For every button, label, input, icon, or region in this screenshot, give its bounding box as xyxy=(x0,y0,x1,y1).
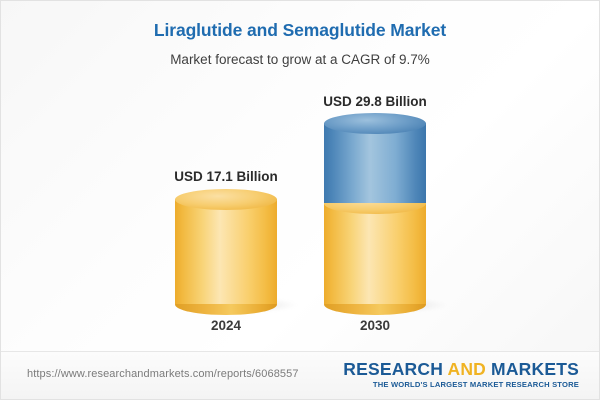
segment-body xyxy=(175,199,277,304)
segment-growth-2030 xyxy=(324,123,426,203)
cylinder-2030[interactable] xyxy=(324,123,426,304)
segment-body xyxy=(324,203,426,304)
brand-word-markets: MARKETS xyxy=(486,359,579,379)
segment-top-ellipse xyxy=(175,189,277,210)
brand-tagline: THE WORLD'S LARGEST MARKET RESEARCH STOR… xyxy=(343,380,579,390)
brand-word-research: RESEARCH xyxy=(343,359,447,379)
brand-name: RESEARCH AND MARKETS xyxy=(343,359,579,379)
brand-logo: RESEARCH AND MARKETS THE WORLD'S LARGEST… xyxy=(343,359,579,390)
year-label-2030: 2030 xyxy=(304,318,446,333)
year-label-2024: 2024 xyxy=(155,318,297,333)
segment-body xyxy=(324,123,426,203)
segment-base-2024 xyxy=(175,199,277,304)
market-infographic: Liraglutide and Semaglutide Market Marke… xyxy=(0,0,600,400)
report-url[interactable]: https://www.researchandmarkets.com/repor… xyxy=(27,368,299,380)
value-label-2024: USD 17.1 Billion xyxy=(135,169,317,184)
value-label-2030: USD 29.8 Billion xyxy=(284,94,466,109)
chart-plot-area: USD 17.1 Billion 2024 USD 29.8 Billion xyxy=(1,1,600,353)
footer: https://www.researchandmarkets.com/repor… xyxy=(1,351,600,399)
segment-top-ellipse xyxy=(324,113,426,134)
brand-word-and: AND xyxy=(447,359,486,379)
cylinder-2024[interactable] xyxy=(175,199,277,304)
segment-base-2030 xyxy=(324,203,426,304)
